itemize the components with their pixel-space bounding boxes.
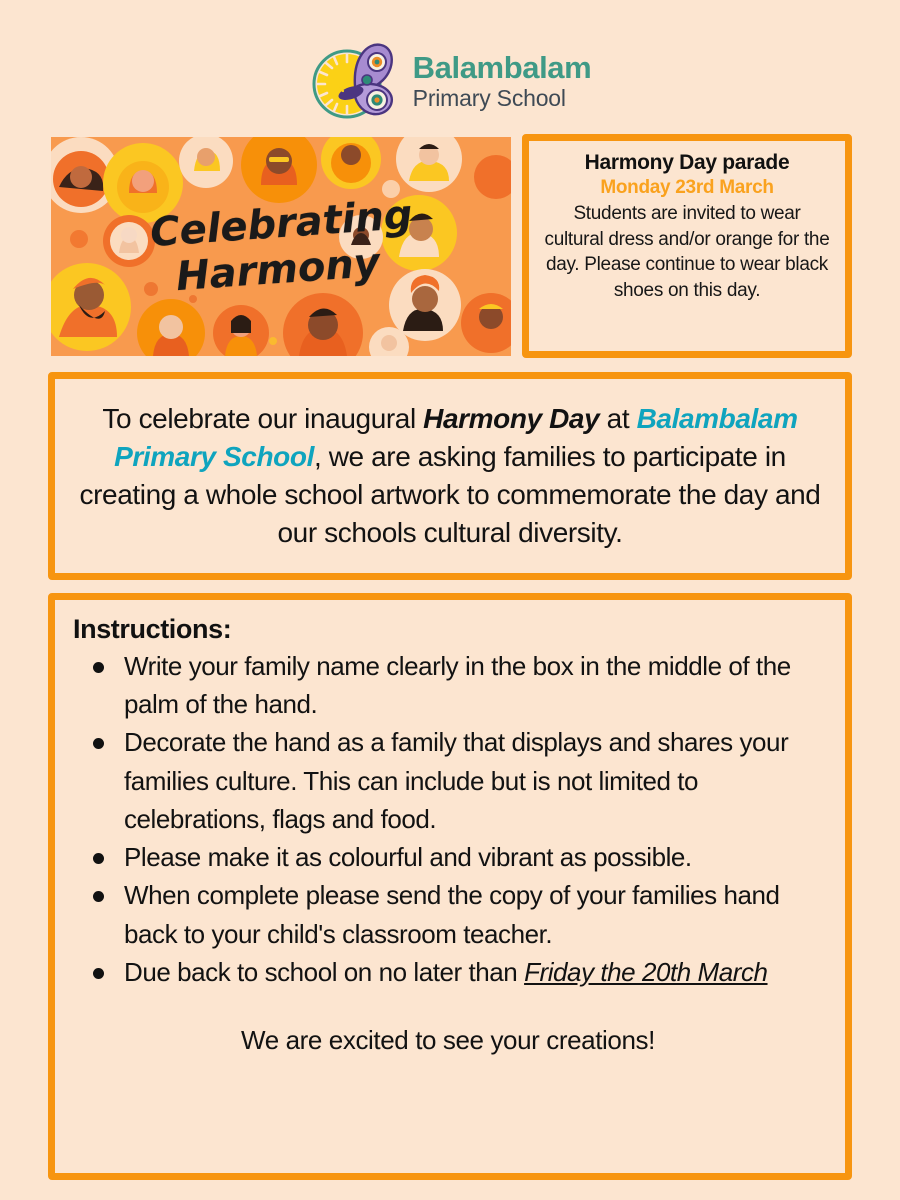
list-item: When complete please send the copy of yo… [69,876,827,952]
due-date-emphasis: Friday the 20th March [524,957,767,987]
school-logo-text: Balambalam Primary School [413,52,592,110]
instructions-list: Write your family name clearly in the bo… [69,647,827,991]
celebrating-harmony-banner: Celebrating Harmony [51,137,511,356]
parade-date: Monday 23rd March [543,177,831,199]
intro-paragraph-box: To celebrate our inaugural Harmony Day a… [48,372,852,580]
flyer-page: Balambalam Primary School [0,0,900,1200]
school-header: Balambalam Primary School [0,38,900,124]
intro-paragraph: To celebrate our inaugural Harmony Day a… [73,400,827,552]
list-item: Please make it as colourful and vibrant … [69,838,827,876]
harmony-day-parade-box: Harmony Day parade Monday 23rd March Stu… [522,134,852,358]
parade-description: Students are invited to wear cultural dr… [543,201,831,304]
school-subtitle: Primary School [413,87,592,110]
list-item: Due back to school on no later than Frid… [69,953,827,991]
closing-message: We are excited to see your creations! [69,1025,827,1056]
list-item: Write your family name clearly in the bo… [69,647,827,723]
list-item-text: Please make it as colourful and vibrant … [124,842,692,872]
instructions-title: Instructions: [69,614,827,645]
intro-part-2: at [599,403,636,434]
list-item-text: When complete please send the copy of yo… [124,880,780,948]
instructions-box: Instructions: Write your family name cle… [48,593,852,1180]
list-item-text: Due back to school on no later than [124,957,524,987]
harmony-faces-illustration [51,137,511,356]
butterfly-sun-logo-icon [309,38,401,124]
list-item-text: Write your family name clearly in the bo… [124,651,791,719]
school-name: Balambalam [413,52,592,83]
parade-title: Harmony Day parade [543,151,831,175]
intro-harmony-day: Harmony Day [423,403,599,434]
list-item-text: Decorate the hand as a family that displ… [124,727,788,833]
intro-part-1: To celebrate our inaugural [102,403,423,434]
list-item: Decorate the hand as a family that displ… [69,723,827,838]
